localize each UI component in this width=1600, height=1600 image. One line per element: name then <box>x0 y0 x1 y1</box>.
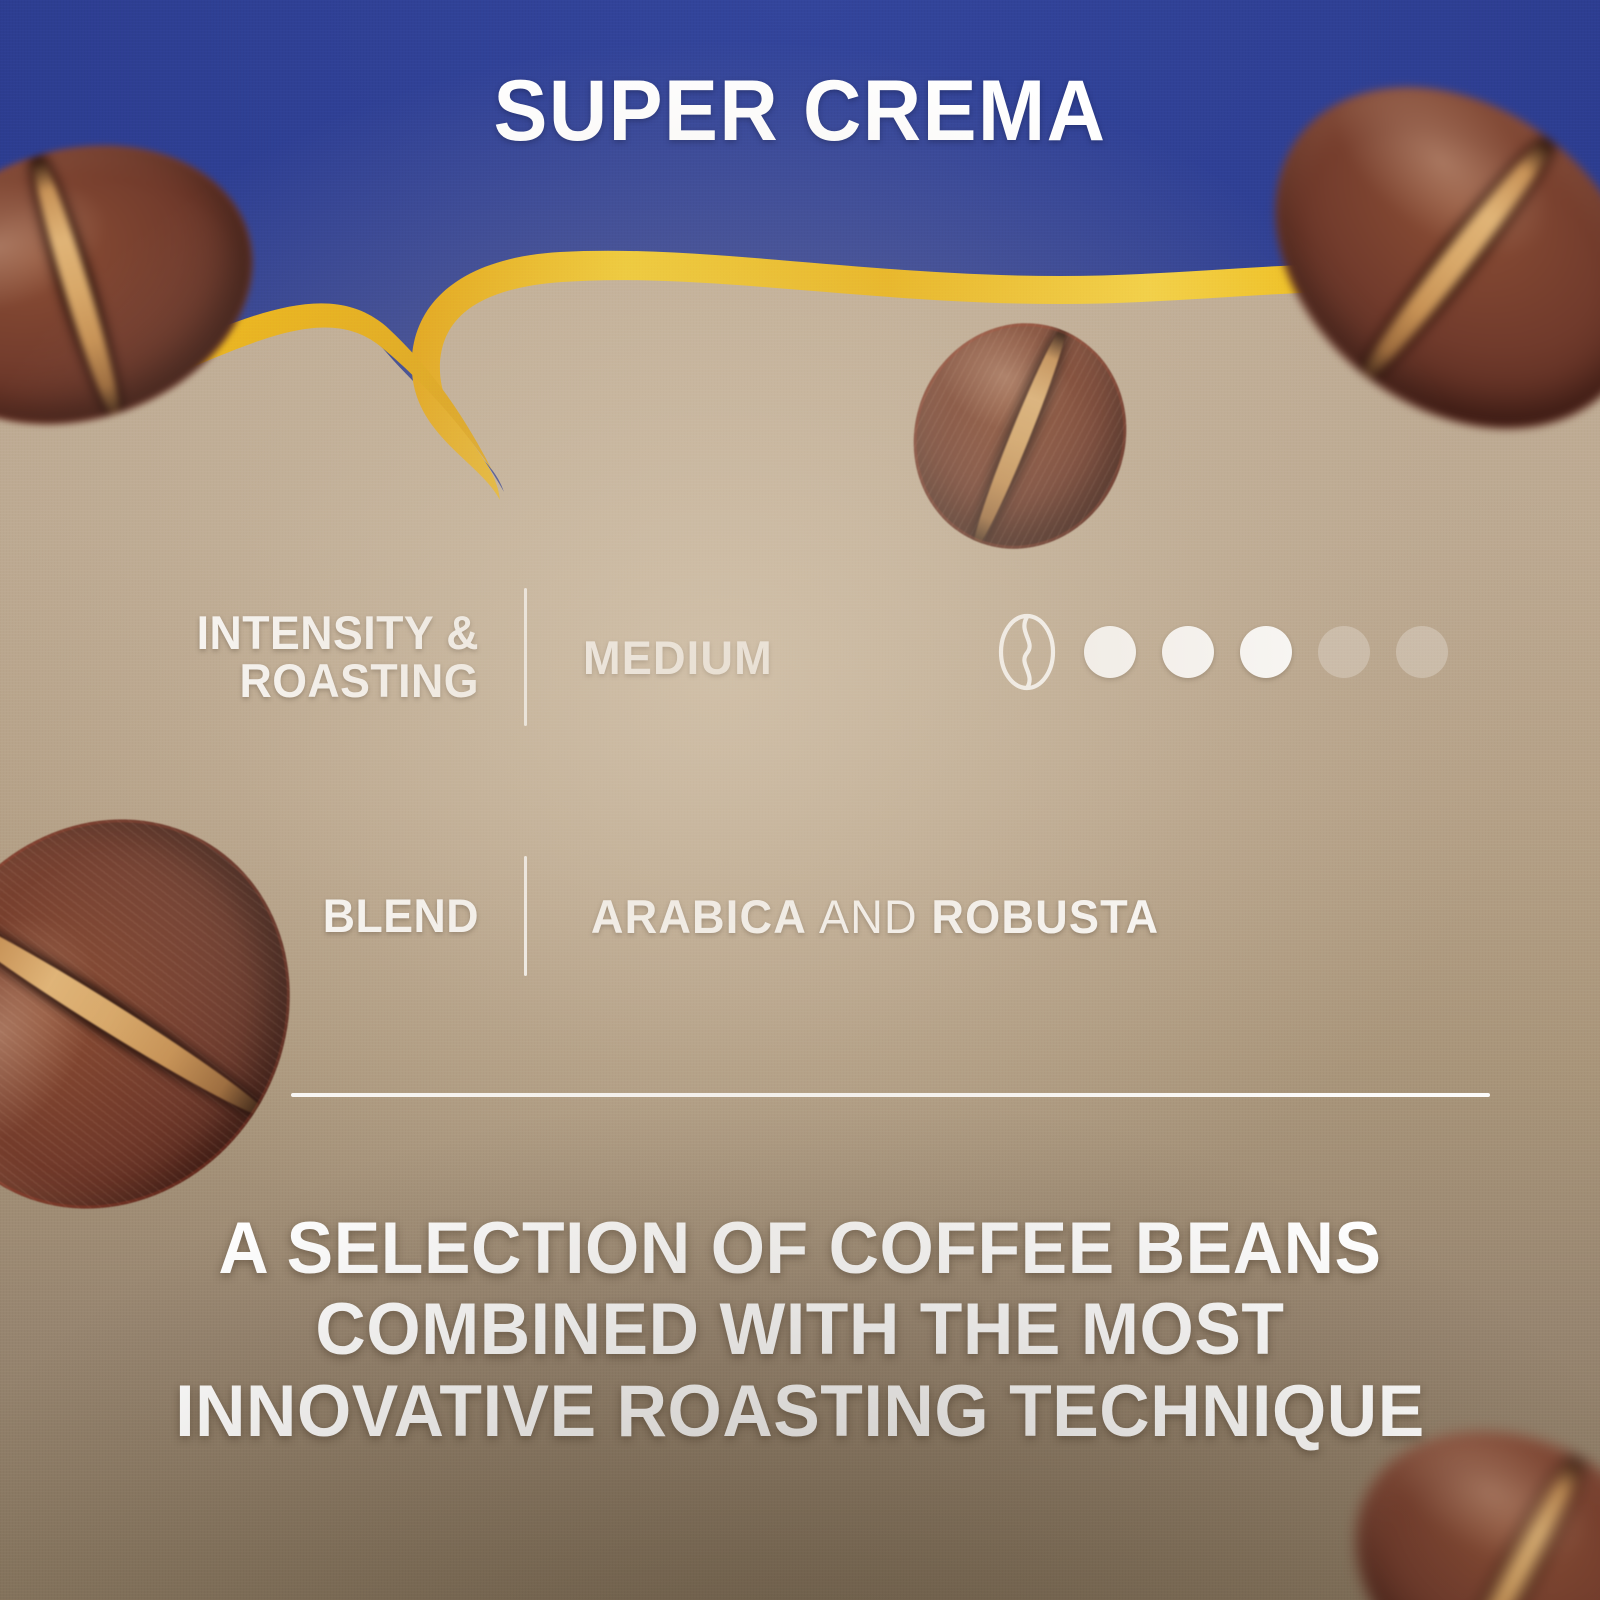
spec-label-intensity-line1: INTENSITY & <box>197 606 479 659</box>
intensity-dot-2 <box>1162 626 1214 678</box>
spec-label-intensity: INTENSITY & ROASTING <box>135 609 479 706</box>
intensity-dot-5 <box>1396 626 1448 678</box>
intensity-dot-3 <box>1240 626 1292 678</box>
spec-label-blend: BLEND <box>135 892 479 940</box>
spec-value-intensity: MEDIUM <box>583 630 773 685</box>
intensity-meter <box>996 612 1448 692</box>
tagline-line-1: A SELECTION OF COFFEE BEANS <box>93 1208 1506 1289</box>
spec-value-blend-robusta: ROBUSTA <box>931 890 1159 943</box>
spec-value-blend-and: AND <box>819 890 918 943</box>
product-tagline: A SELECTION OF COFFEE BEANS COMBINED WIT… <box>93 1208 1506 1452</box>
spec-value-blend-arabica: ARABICA <box>591 890 805 943</box>
tagline-line-2: COMBINED WITH THE MOST <box>93 1289 1506 1370</box>
product-title: SUPER CREMA <box>48 68 1552 154</box>
tagline-line-3: INNOVATIVE ROASTING TECHNIQUE <box>93 1371 1506 1452</box>
spec-row-blend: BLEND ARABICA AND ROBUSTA <box>126 856 1456 976</box>
spec-divider-intensity <box>524 588 527 726</box>
spec-label-intensity-line2: ROASTING <box>239 654 478 707</box>
product-infographic: SUPER CREMA INTENSITY & ROASTING MEDIUM … <box>0 0 1600 1600</box>
intensity-dot-4 <box>1318 626 1370 678</box>
section-divider-rule <box>291 1093 1490 1097</box>
spec-value-blend: ARABICA AND ROBUSTA <box>591 889 1159 944</box>
coffee-bean-outline-icon <box>996 612 1058 692</box>
spec-divider-blend <box>524 856 527 976</box>
intensity-dot-1 <box>1084 626 1136 678</box>
